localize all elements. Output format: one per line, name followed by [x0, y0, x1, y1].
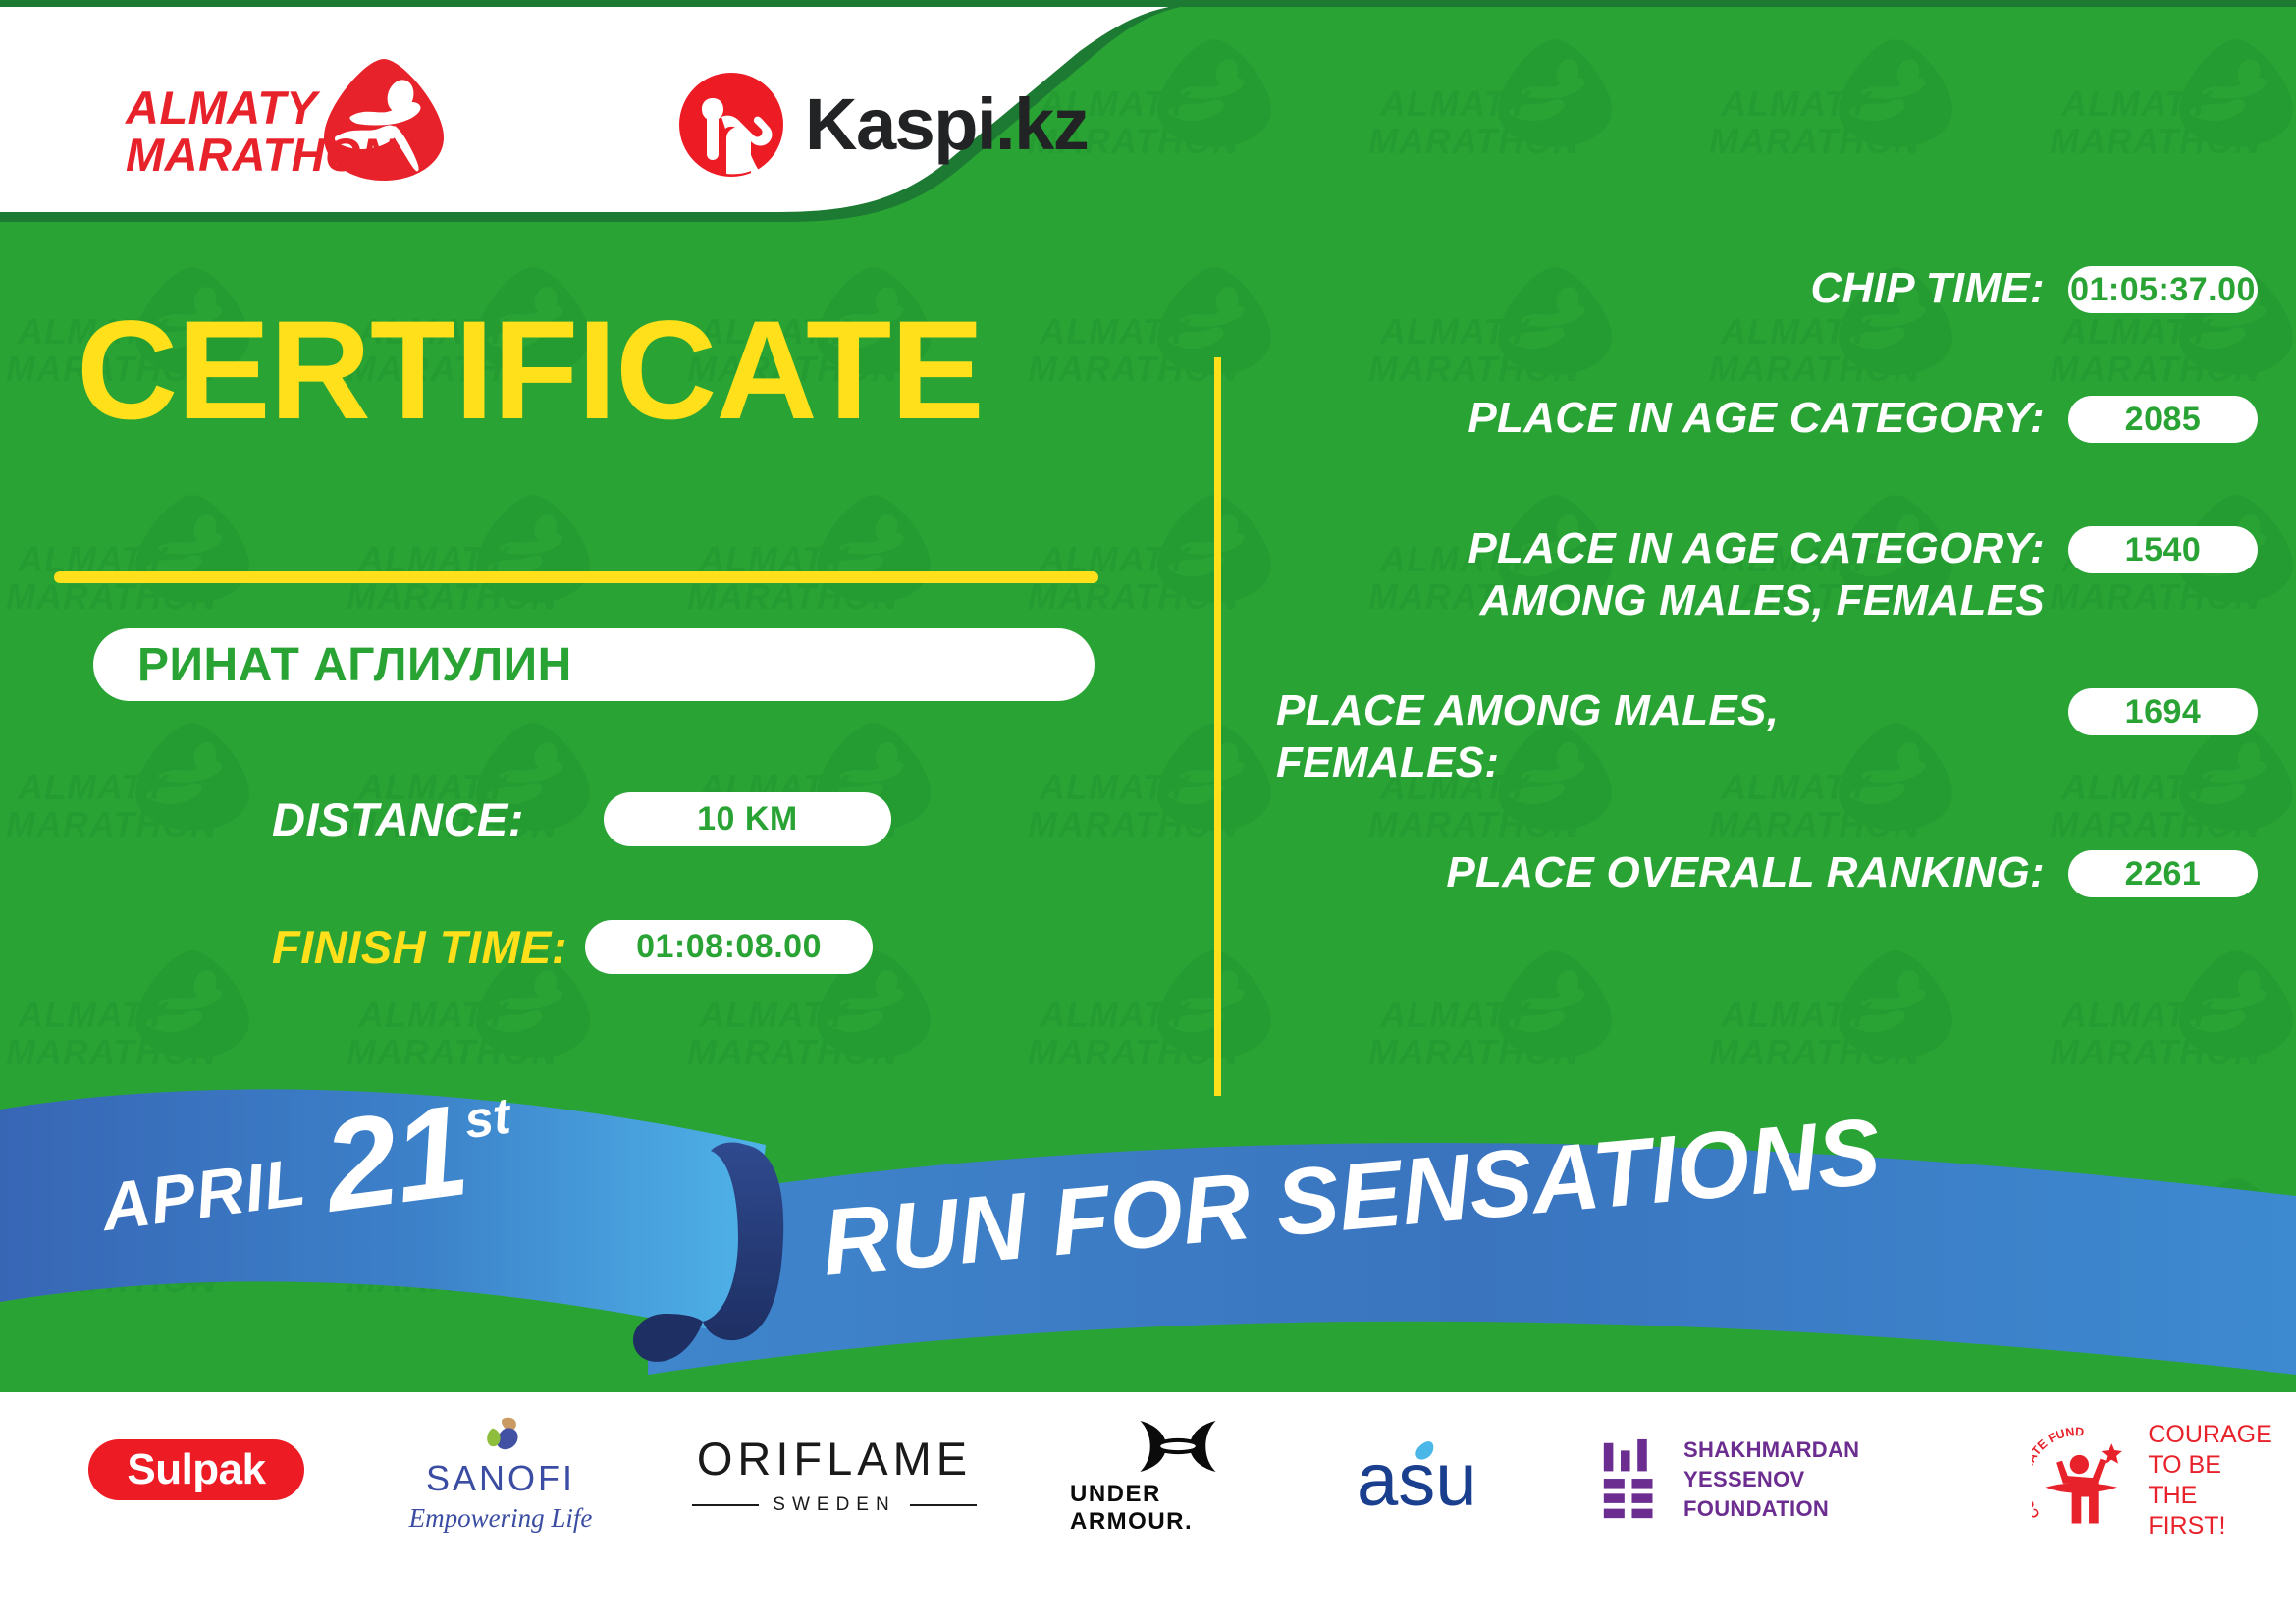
- title-underline-rule: [54, 571, 1098, 583]
- place-age-category-label: PLACE IN AGE CATEGORY:: [1276, 392, 2045, 444]
- label-line-2: AMONG MALES, FEMALES: [1479, 576, 2045, 624]
- sponsor-courage-to-be-first-logo: CORPORATE FUND COURAGE TO BE THE FIRST!: [2032, 1422, 2277, 1540]
- certificate-canvas: ALMATY MARATHON Kaspi.kz CERTIFICATE РИН: [0, 0, 2296, 1624]
- courage-line-3: THE FIRST!: [2148, 1482, 2225, 1540]
- stat-row-chip-time: CHIP TIME: 01:05:37.00: [1276, 262, 2258, 314]
- yessenov-foundation-wordmark: SHAKHMARDAN YESSENOV FOUNDATION: [1683, 1435, 1973, 1524]
- courage-runner-icon: CORPORATE FUND: [2032, 1427, 2138, 1535]
- event-day: 21: [318, 1095, 471, 1222]
- almaty-marathon-logo: ALMATY MARATHON: [126, 57, 450, 194]
- oriflame-sweden-label: SWEDEN: [773, 1494, 895, 1516]
- sponsor-asu-logo: asu: [1355, 1430, 1541, 1528]
- finish-time-label: FINISH TIME:: [272, 920, 567, 974]
- sponsors-bar: Sulpak SANOFI Empowering Life ORIFLAME S…: [0, 1404, 2296, 1624]
- courage-line-1: COURAGE: [2148, 1421, 2271, 1448]
- finish-time-value: 01:08:08.00: [585, 920, 873, 974]
- courage-tagline: COURAGE TO BE THE FIRST!: [2148, 1420, 2277, 1542]
- place-age-category-value: 2085: [2068, 396, 2258, 443]
- event-day-ordinal: st: [461, 1091, 513, 1148]
- vertical-divider: [1214, 357, 1221, 1096]
- kaspi-logo: Kaspi.kz: [677, 59, 1070, 177]
- sponsor-sanofi-logo: SANOFI Empowering Life: [388, 1416, 614, 1534]
- oriflame-rule-left: [692, 1504, 759, 1506]
- sponsor-under-armour-logo: UNDER ARMOUR.: [1070, 1418, 1286, 1536]
- sponsor-yessenov-foundation-logo: SHAKHMARDAN YESSENOV FOUNDATION: [1600, 1426, 1973, 1534]
- place-overall-ranking-label: PLACE OVERALL RANKING:: [1276, 846, 2045, 898]
- almaty-marathon-wordmark: ALMATY MARATHON: [126, 84, 396, 179]
- marathon-line: MARATHON: [126, 132, 396, 179]
- sponsor-oriflame-logo: ORIFLAME SWEDEN: [687, 1430, 982, 1518]
- finish-time-row: FINISH TIME: 01:08:08.00: [272, 920, 873, 974]
- chip-time-value: 01:05:37.00: [2068, 266, 2258, 313]
- place-among-males-females-value: 1694: [2068, 688, 2258, 735]
- stat-row-place-among-males-females: PLACE AMONG MALES, FEMALES: 1694: [1276, 684, 2258, 788]
- participant-name: РИНАТ АГЛИУЛИН: [137, 638, 572, 692]
- under-armour-mark-icon: [1119, 1418, 1237, 1475]
- place-overall-ranking-value: 2261: [2068, 850, 2258, 897]
- distance-row: DISTANCE: 10 KM: [272, 792, 891, 846]
- place-age-category-among-label: PLACE IN AGE CATEGORY: AMONG MALES, FEMA…: [1276, 522, 2045, 626]
- stat-row-place-age-category: PLACE IN AGE CATEGORY: 2085: [1276, 392, 2258, 444]
- sulpak-wordmark: Sulpak: [127, 1445, 265, 1494]
- almaty-line: ALMATY: [126, 84, 396, 132]
- label-line-1: PLACE IN AGE CATEGORY:: [1468, 524, 2045, 572]
- sponsor-sulpak-logo: Sulpak: [88, 1439, 304, 1500]
- label-line-1: PLACE AMONG MALES,: [1276, 686, 1779, 734]
- oriflame-wordmark: ORIFLAME: [697, 1432, 972, 1486]
- kaspi-wordmark: Kaspi.kz: [805, 82, 1088, 166]
- stat-row-place-overall-ranking: PLACE OVERALL RANKING: 2261: [1276, 846, 2258, 898]
- place-age-category-among-value: 1540: [2068, 526, 2258, 573]
- sanofi-mark-icon: [466, 1416, 535, 1454]
- courage-line-2: TO BE: [2148, 1451, 2221, 1479]
- label-line-2: FEMALES:: [1276, 738, 1499, 786]
- place-among-males-females-label: PLACE AMONG MALES, FEMALES:: [1276, 684, 2045, 788]
- yessenov-line-2: FOUNDATION: [1683, 1496, 1829, 1521]
- yessenov-bars-icon: [1600, 1437, 1662, 1522]
- yessenov-line-1: SHAKHMARDAN YESSENOV: [1683, 1437, 1859, 1491]
- participant-name-field: РИНАТ АГЛИУЛИН: [93, 628, 1095, 701]
- sanofi-tagline: Empowering Life: [409, 1503, 593, 1534]
- stat-row-place-age-category-among: PLACE IN AGE CATEGORY: AMONG MALES, FEMA…: [1276, 522, 2258, 626]
- sanofi-wordmark: SANOFI: [426, 1458, 575, 1499]
- top-green-rule: [0, 0, 2296, 7]
- distance-value: 10 KM: [604, 792, 891, 846]
- oriflame-rule-right: [910, 1504, 977, 1506]
- page-title: CERTIFICATE: [77, 300, 984, 441]
- under-armour-wordmark: UNDER ARMOUR.: [1070, 1481, 1286, 1536]
- distance-label: DISTANCE:: [272, 792, 524, 846]
- chip-time-label: CHIP TIME:: [1276, 262, 2045, 314]
- kaspi-family-circle-icon: [677, 71, 785, 179]
